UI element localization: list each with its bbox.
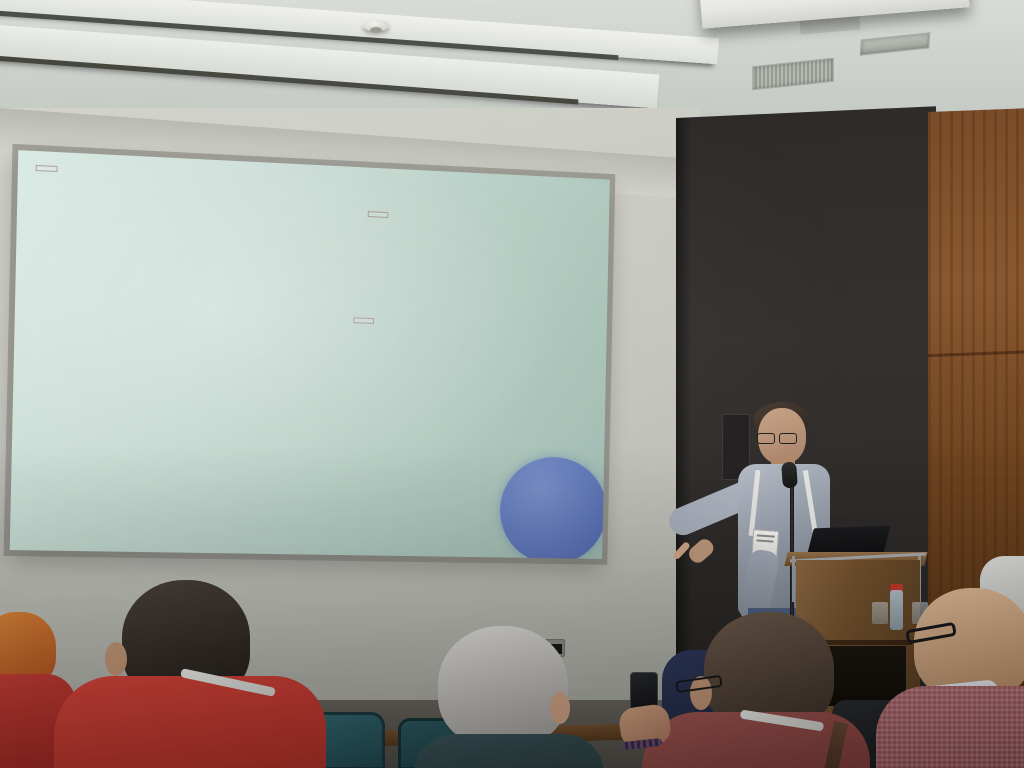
tax-treatment-table	[31, 206, 368, 225]
event-logo-word	[539, 366, 610, 367]
slide-title-tax-treatment	[36, 165, 58, 172]
person-red-polo	[60, 580, 350, 768]
person-ear	[105, 642, 127, 676]
person-head	[438, 626, 568, 746]
transaction-type-list	[396, 242, 588, 250]
person-body	[414, 734, 604, 768]
person-body	[54, 676, 326, 768]
extra-details-list	[395, 348, 603, 355]
projection-screen	[10, 150, 610, 559]
presenter-pointing-finger	[672, 541, 691, 560]
event-logo-tagline-1	[539, 365, 610, 366]
person-bald-glasses	[892, 588, 1024, 768]
slide-header-extra-details	[353, 317, 374, 324]
person-body	[876, 686, 1024, 768]
presenter-hand	[686, 536, 717, 566]
conference-room-photo	[0, 0, 1024, 768]
microphone-icon	[781, 462, 798, 489]
circle-badge-vat-overview	[499, 456, 608, 559]
person-ear	[550, 692, 570, 724]
projected-slide	[10, 150, 610, 559]
person-grey-hair	[410, 626, 610, 768]
hand-holding-phone	[614, 672, 678, 768]
podium-railing-post	[792, 556, 795, 602]
slide-header-transaction-type	[368, 211, 389, 218]
event-logo-tagline-2	[539, 365, 610, 366]
smoke-detector-icon	[363, 20, 389, 31]
event-logo-subtitle	[539, 364, 610, 365]
glasses-icon	[757, 433, 799, 443]
person-maroon-shirt	[648, 612, 878, 768]
event-logo	[539, 366, 610, 420]
